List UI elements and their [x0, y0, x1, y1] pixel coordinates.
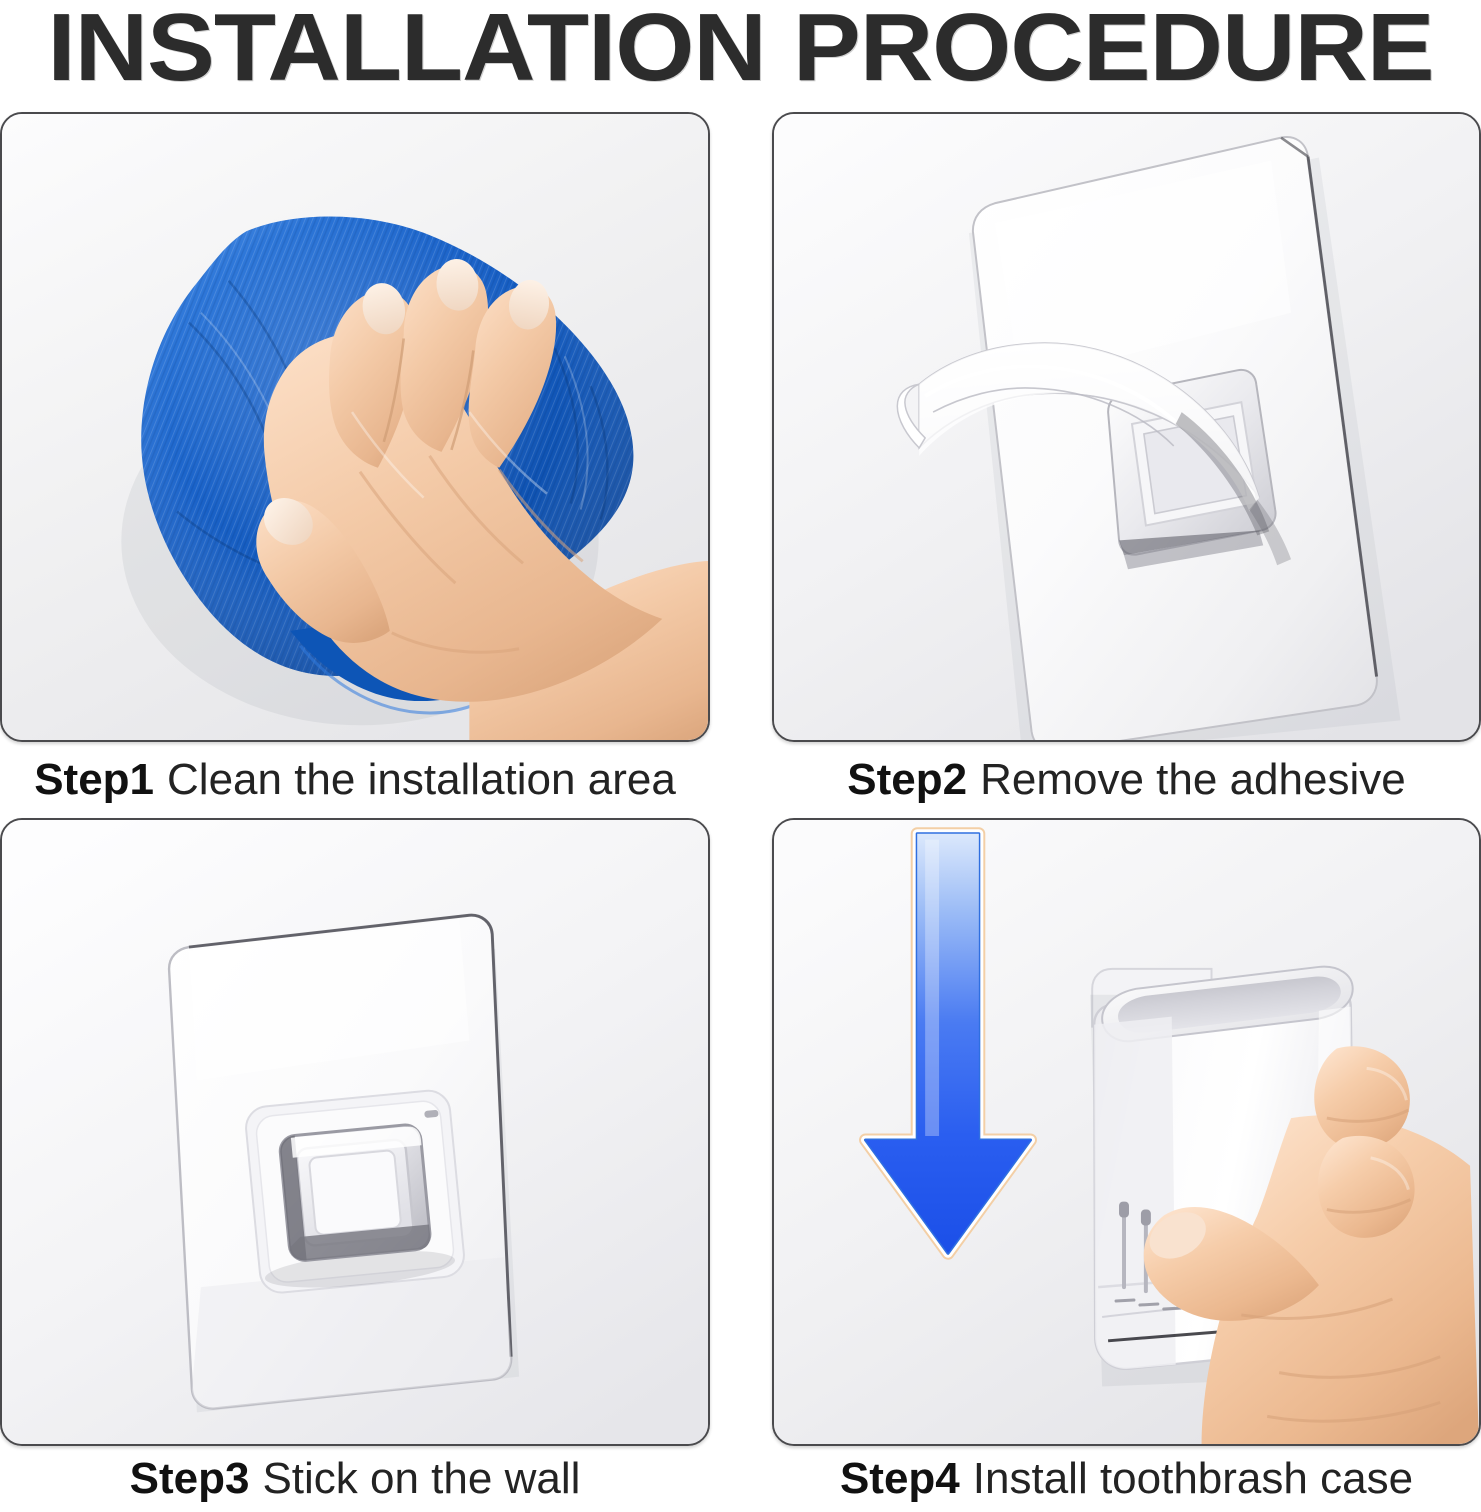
step-1-image-panel [0, 112, 710, 742]
step-3-number: Step3 [130, 1455, 250, 1503]
page-title: INSTALLATION PROCEDURE [0, 0, 1481, 100]
adhesive-pad-icon [774, 114, 1479, 740]
step-3-caption: Step3 Stick on the wall [0, 1446, 710, 1512]
step-1-caption: Step1 Clean the installation area [0, 742, 710, 818]
step-1-label: Clean the installation area [167, 756, 676, 804]
toothbrush-case-install-icon [774, 820, 1479, 1444]
step-4-caption: Step4 Install toothbrash case [772, 1446, 1481, 1512]
step-2-image-panel [772, 112, 1481, 742]
step-3-image-panel [0, 818, 710, 1446]
step-3-label: Stick on the wall [262, 1455, 580, 1503]
wall-mounted-pad-icon [2, 820, 708, 1444]
step-2-caption: Step2 Remove the adhesive [772, 742, 1481, 818]
clip-notch [424, 1110, 439, 1118]
mounting-clip-square [279, 1124, 432, 1262]
step-4-number: Step4 [840, 1455, 960, 1503]
step-4-image-panel [772, 818, 1481, 1446]
step-1-number: Step1 [34, 756, 154, 804]
step-2-label: Remove the adhesive [980, 756, 1406, 804]
cleaning-cloth-icon [2, 114, 708, 740]
installation-steps-grid: Step1 Clean the installation area [0, 112, 1481, 1492]
step-2-number: Step2 [847, 756, 967, 804]
step-4-label: Install toothbrash case [973, 1455, 1413, 1503]
